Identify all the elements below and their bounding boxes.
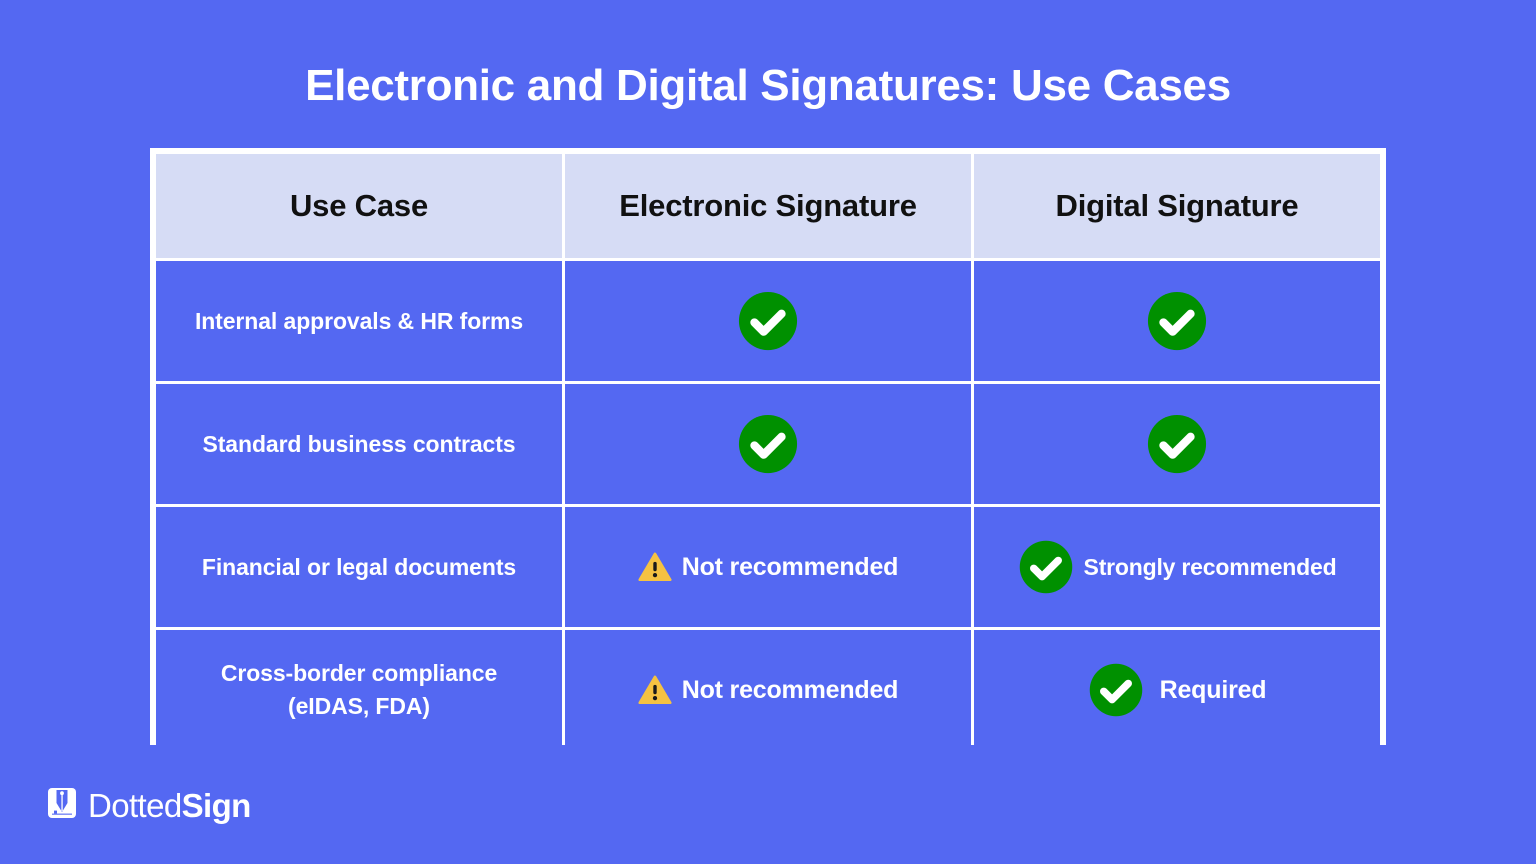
logo-text-sign: Sign — [182, 787, 251, 824]
status-label: Not recommended — [682, 553, 898, 582]
check-circle-icon — [737, 290, 799, 352]
use-case-label: Standard business contracts — [156, 428, 562, 461]
table-row: Cross-border compliance (eIDAS, FDA) Not… — [156, 630, 1380, 750]
cell-digital-signature — [974, 261, 1380, 381]
status-group: Not recommended — [565, 507, 971, 627]
status-group — [565, 261, 971, 381]
status-group: Not recommended — [565, 630, 971, 750]
cell-electronic-signature — [565, 261, 971, 381]
comparison-table: Use Case Electronic Signature Digital Si… — [153, 151, 1383, 753]
status-group — [565, 384, 971, 504]
status-group: Strongly recommended — [974, 507, 1380, 627]
comparison-table-container: Use Case Electronic Signature Digital Si… — [150, 148, 1386, 745]
use-case-label: Cross-border compliance (eIDAS, FDA) — [156, 657, 562, 722]
use-case-label: Financial or legal documents — [156, 551, 562, 584]
page-title: Electronic and Digital Signatures: Use C… — [0, 60, 1536, 112]
check-circle-icon — [737, 413, 799, 475]
cell-electronic-signature — [565, 384, 971, 504]
check-circle-icon — [1018, 539, 1074, 595]
column-header-digital-signature: Digital Signature — [974, 154, 1380, 258]
cell-digital-signature — [974, 384, 1380, 504]
logo-text-dotted: Dotted — [88, 787, 182, 824]
table-header-row: Use Case Electronic Signature Digital Si… — [156, 154, 1380, 258]
check-circle-icon — [1146, 413, 1208, 475]
cell-use-case: Cross-border compliance (eIDAS, FDA) — [156, 630, 562, 750]
check-circle-icon — [1088, 662, 1144, 718]
column-header-use-case: Use Case — [156, 154, 562, 258]
cell-electronic-signature: Not recommended — [565, 507, 971, 627]
logo-wordmark: DottedSign — [88, 789, 251, 822]
status-group: Required — [974, 630, 1380, 750]
slide-canvas: Electronic and Digital Signatures: Use C… — [0, 0, 1536, 864]
status-label: Not recommended — [682, 676, 898, 705]
dottedsign-mark-icon — [45, 787, 79, 823]
status-label: Strongly recommended — [1084, 554, 1337, 581]
status-label: Required — [1160, 676, 1267, 705]
cell-use-case: Internal approvals & HR forms — [156, 261, 562, 381]
use-case-label: Internal approvals & HR forms — [156, 305, 562, 338]
cell-use-case: Financial or legal documents — [156, 507, 562, 627]
table-row: Financial or legal documents Not recomme… — [156, 507, 1380, 627]
cell-digital-signature: Required — [974, 630, 1380, 750]
warning-triangle-icon — [638, 673, 672, 707]
cell-use-case: Standard business contracts — [156, 384, 562, 504]
status-group — [974, 261, 1380, 381]
cell-electronic-signature: Not recommended — [565, 630, 971, 750]
check-circle-icon — [1146, 290, 1208, 352]
dottedsign-logo: DottedSign — [45, 783, 251, 827]
table-row: Internal approvals & HR forms — [156, 261, 1380, 381]
table-row: Standard business contracts — [156, 384, 1380, 504]
cell-digital-signature: Strongly recommended — [974, 507, 1380, 627]
column-header-electronic-signature: Electronic Signature — [565, 154, 971, 258]
warning-triangle-icon — [638, 550, 672, 584]
status-group — [974, 384, 1380, 504]
